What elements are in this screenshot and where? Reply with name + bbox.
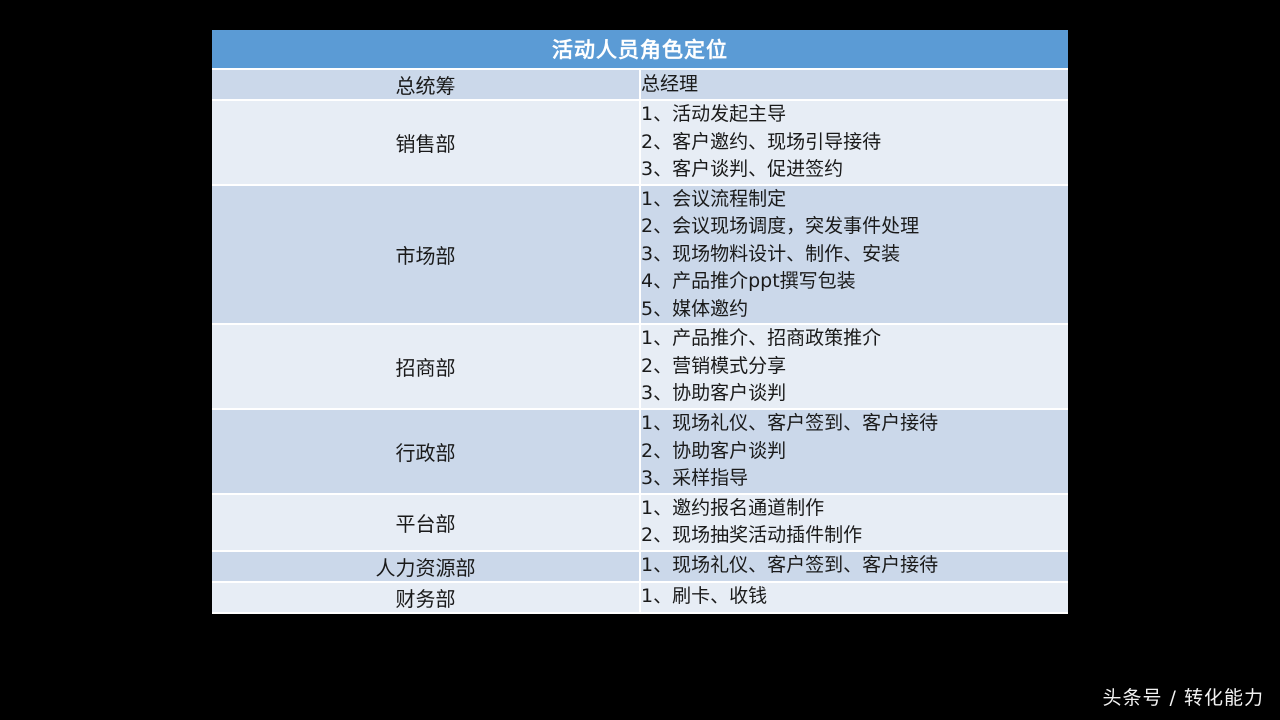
duty-line: 3、采样指导 <box>641 465 1068 493</box>
duty-line: 5、媒体邀约 <box>641 296 1068 324</box>
role-cell: 销售部 <box>212 100 640 185</box>
duty-line: 总经理 <box>641 71 1068 99</box>
table-row: 市场部1、会议流程制定2、会议现场调度，突发事件处理3、现场物料设计、制作、安装… <box>212 185 1068 325</box>
duty-line: 1、产品推介、招商政策推介 <box>641 325 1068 353</box>
duty-line: 1、现场礼仪、客户签到、客户接待 <box>641 552 1068 580</box>
table-row: 总统筹总经理 <box>212 69 1068 100</box>
duties-cell: 1、产品推介、招商政策推介2、营销模式分享3、协助客户谈判 <box>640 324 1068 409</box>
duty-line: 2、会议现场调度，突发事件处理 <box>641 213 1068 241</box>
table-row: 招商部1、产品推介、招商政策推介2、营销模式分享3、协助客户谈判 <box>212 324 1068 409</box>
table-row: 人力资源部1、现场礼仪、客户签到、客户接待 <box>212 551 1068 582</box>
duties-cell: 1、现场礼仪、客户签到、客户接待 <box>640 551 1068 582</box>
table-row: 销售部1、活动发起主导2、客户邀约、现场引导接待3、客户谈判、促进签约 <box>212 100 1068 185</box>
duties-cell: 1、邀约报名通道制作2、现场抽奖活动插件制作 <box>640 494 1068 551</box>
role-rows: 总统筹总经理销售部1、活动发起主导2、客户邀约、现场引导接待3、客户谈判、促进签… <box>212 69 1068 613</box>
duty-line: 2、现场抽奖活动插件制作 <box>641 522 1068 550</box>
role-table: 活动人员角色定位 总统筹总经理销售部1、活动发起主导2、客户邀约、现场引导接待3… <box>212 30 1068 614</box>
duty-line: 2、客户邀约、现场引导接待 <box>641 129 1068 157</box>
role-cell: 平台部 <box>212 494 640 551</box>
role-cell: 人力资源部 <box>212 551 640 582</box>
table-title: 活动人员角色定位 <box>212 30 1068 69</box>
table-title-row: 活动人员角色定位 <box>212 30 1068 69</box>
duty-line: 1、活动发起主导 <box>641 101 1068 129</box>
duty-line: 3、客户谈判、促进签约 <box>641 156 1068 184</box>
table-row: 财务部1、刷卡、收钱 <box>212 582 1068 613</box>
duty-line: 1、现场礼仪、客户签到、客户接待 <box>641 410 1068 438</box>
duty-line: 1、会议流程制定 <box>641 186 1068 214</box>
duties-cell: 1、活动发起主导2、客户邀约、现场引导接待3、客户谈判、促进签约 <box>640 100 1068 185</box>
role-table-container: 活动人员角色定位 总统筹总经理销售部1、活动发起主导2、客户邀约、现场引导接待3… <box>212 30 1068 614</box>
role-cell: 财务部 <box>212 582 640 613</box>
role-cell: 总统筹 <box>212 69 640 100</box>
duties-cell: 总经理 <box>640 69 1068 100</box>
role-cell: 行政部 <box>212 409 640 494</box>
duties-cell: 1、刷卡、收钱 <box>640 582 1068 613</box>
slide-canvas: 活动人员角色定位 总统筹总经理销售部1、活动发起主导2、客户邀约、现场引导接待3… <box>0 0 1280 720</box>
duty-line: 2、营销模式分享 <box>641 353 1068 381</box>
role-cell: 招商部 <box>212 324 640 409</box>
duty-line: 3、协助客户谈判 <box>641 380 1068 408</box>
table-row: 行政部1、现场礼仪、客户签到、客户接待2、协助客户谈判3、采样指导 <box>212 409 1068 494</box>
duties-cell: 1、会议流程制定2、会议现场调度，突发事件处理3、现场物料设计、制作、安装4、产… <box>640 185 1068 325</box>
duty-line: 1、刷卡、收钱 <box>641 583 1068 611</box>
watermark-label: 头条号 / 转化能力 <box>1103 683 1264 710</box>
role-cell: 市场部 <box>212 185 640 325</box>
duty-line: 4、产品推介ppt撰写包装 <box>641 268 1068 296</box>
duty-line: 3、现场物料设计、制作、安装 <box>641 241 1068 269</box>
duty-line: 1、邀约报名通道制作 <box>641 495 1068 523</box>
duty-line: 2、协助客户谈判 <box>641 438 1068 466</box>
duties-cell: 1、现场礼仪、客户签到、客户接待2、协助客户谈判3、采样指导 <box>640 409 1068 494</box>
table-row: 平台部1、邀约报名通道制作2、现场抽奖活动插件制作 <box>212 494 1068 551</box>
role-table-body: 活动人员角色定位 <box>212 30 1068 69</box>
